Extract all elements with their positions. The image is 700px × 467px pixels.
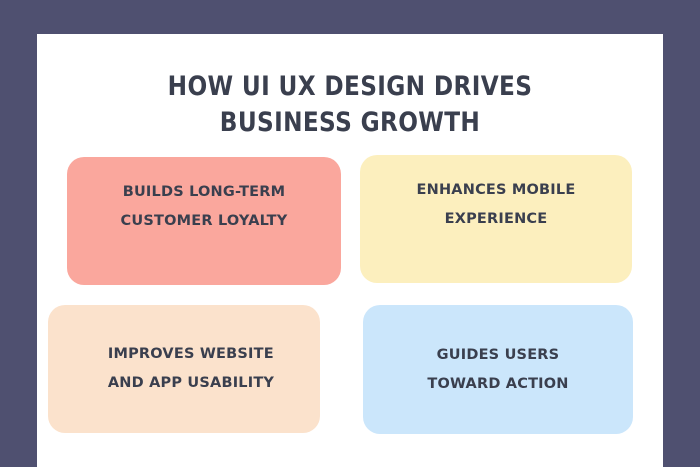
card-label-line-1: BUILDS LONG-TERM	[121, 178, 288, 207]
card-guides-users-toward-action: GUIDES USERS TOWARD ACTION	[363, 305, 633, 434]
infographic-poster: HOW UI UX DESIGN DRIVES BUSINESS GROWTH …	[0, 0, 700, 467]
page-title-line-1: HOW UI UX DESIGN DRIVES	[81, 69, 619, 105]
card-improves-website-and-app-usability: IMPROVES WEBSITE AND APP USABILITY	[48, 305, 320, 433]
card-label: ENHANCES MOBILE EXPERIENCE	[417, 176, 576, 234]
card-label: IMPROVES WEBSITE AND APP USABILITY	[108, 340, 274, 398]
card-label-line-2: EXPERIENCE	[417, 205, 576, 234]
poster-white-panel: HOW UI UX DESIGN DRIVES BUSINESS GROWTH …	[37, 34, 663, 467]
card-label: BUILDS LONG-TERM CUSTOMER LOYALTY	[121, 178, 288, 236]
card-label: GUIDES USERS TOWARD ACTION	[427, 341, 568, 399]
card-label-line-1: ENHANCES MOBILE	[417, 176, 576, 205]
card-enhances-mobile-experience: ENHANCES MOBILE EXPERIENCE	[360, 155, 632, 283]
card-label-line-1: GUIDES USERS	[427, 341, 568, 370]
card-label-line-2: CUSTOMER LOYALTY	[121, 207, 288, 236]
page-title-line-2: BUSINESS GROWTH	[81, 105, 619, 141]
card-builds-long-term-customer-loyalty: BUILDS LONG-TERM CUSTOMER LOYALTY	[67, 157, 341, 285]
card-label-line-1: IMPROVES WEBSITE	[108, 340, 274, 369]
page-title: HOW UI UX DESIGN DRIVES BUSINESS GROWTH	[37, 69, 663, 141]
card-label-line-2: TOWARD ACTION	[427, 370, 568, 399]
card-label-line-2: AND APP USABILITY	[108, 369, 274, 398]
